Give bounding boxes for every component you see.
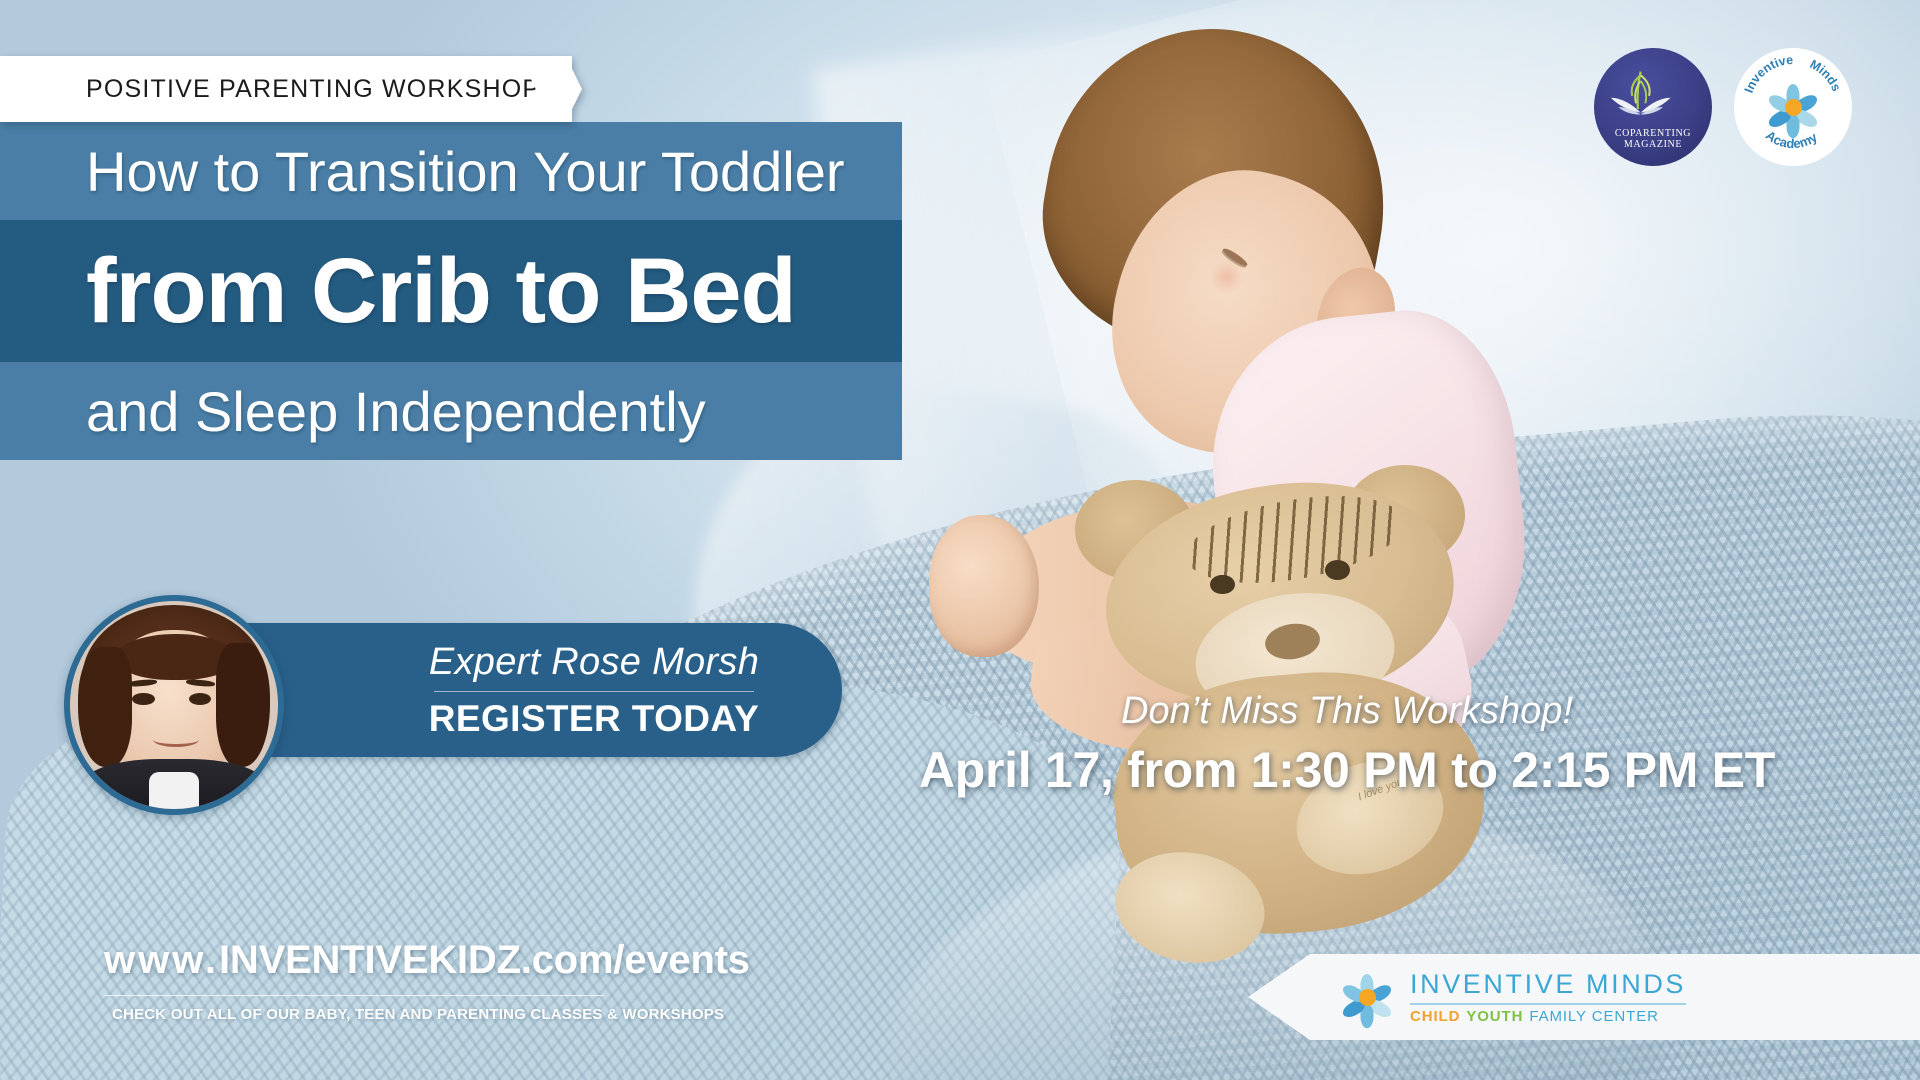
avatar-smile: [153, 732, 199, 747]
dont-miss-tagline: Don’t Miss This Workshop!: [812, 690, 1882, 733]
url-www: www.: [104, 938, 219, 982]
title-band-one: How to Transition Your Toddler: [0, 122, 902, 220]
speaker-block: Expert Rose Morsh REGISTER TODAY: [64, 595, 784, 785]
speaker-name: Expert Rose Morsh: [329, 641, 759, 684]
pill-divider: [434, 691, 754, 692]
avatar-hair-left: [78, 647, 132, 768]
kicker-label: POSITIVE PARENTING WORKSHOP: [0, 75, 540, 104]
partner-badges: COPARENTING MAGAZINE Inventive Minds Aca…: [1594, 48, 1852, 166]
inventive-minds-logo-banner: INVENTIVE MINDS CHILD YOUTH FAMILY CENTE…: [1248, 954, 1920, 1040]
avatar-eye-right: [189, 693, 212, 705]
website-block: www.INVENTIVEKIDZ.com/events CHECK OUT A…: [104, 938, 744, 1023]
toddler-fist: [929, 515, 1039, 658]
coparenting-line-1: COPARENTING: [1615, 128, 1691, 139]
register-today-label: REGISTER TODAY: [329, 698, 759, 740]
title-line-3: and Sleep Independently: [0, 379, 706, 444]
url-divider: [104, 995, 604, 996]
logo-text-group: INVENTIVE MINDS CHILD YOUTH FAMILY CENTE…: [1410, 969, 1686, 1025]
logo-title: INVENTIVE MINDS: [1410, 969, 1686, 1000]
avatar-eye-left: [132, 693, 155, 705]
pinwheel-flower-icon-banner: [1340, 970, 1394, 1024]
title-band-three: and Sleep Independently: [0, 362, 902, 460]
pinwheel-flower-icon: [1766, 80, 1820, 134]
avatar-shirt: [149, 772, 199, 815]
teddy-eye-right: [1325, 560, 1350, 580]
coparenting-magazine-badge: COPARENTING MAGAZINE: [1594, 48, 1712, 166]
coparenting-line-2: MAGAZINE: [1624, 139, 1682, 150]
kicker-banner: POSITIVE PARENTING WORKSHOP: [0, 56, 572, 122]
title-band-two: from Crib to Bed: [0, 220, 902, 362]
register-today-button[interactable]: Expert Rose Morsh REGISTER TODAY: [246, 623, 842, 757]
logo-sub-child: CHILD: [1410, 1008, 1460, 1025]
url-path: .com/events: [521, 938, 750, 982]
url-domain: INVENTIVEKIDZ: [219, 938, 521, 982]
inventive-minds-academy-badge: Inventive Minds Academy: [1734, 48, 1852, 166]
teddy-eye-left: [1210, 575, 1235, 595]
logo-underline: [1410, 1003, 1686, 1005]
event-datetime-block: Don’t Miss This Workshop! April 17, from…: [812, 690, 1882, 799]
website-url[interactable]: www.INVENTIVEKIDZ.com/events: [104, 938, 744, 983]
logo-sub-family: FAMILY CENTER: [1529, 1008, 1659, 1025]
title-line-1: How to Transition Your Toddler: [0, 139, 845, 204]
logo-sub-youth: YOUTH: [1466, 1008, 1523, 1025]
event-date-time: April 17, from 1:30 PM to 2:15 PM ET: [812, 741, 1882, 799]
website-subtitle: CHECK OUT ALL OF OUR BABY, TEEN AND PARE…: [104, 1006, 744, 1023]
wheat-plant-icon: [1594, 66, 1687, 122]
title-line-2: from Crib to Bed: [0, 239, 796, 344]
title-stack: POSITIVE PARENTING WORKSHOP How to Trans…: [0, 56, 902, 460]
avatar-hair-right: [216, 643, 270, 768]
speaker-avatar: [64, 595, 284, 815]
logo-subtitle: CHILD YOUTH FAMILY CENTER: [1410, 1008, 1686, 1025]
